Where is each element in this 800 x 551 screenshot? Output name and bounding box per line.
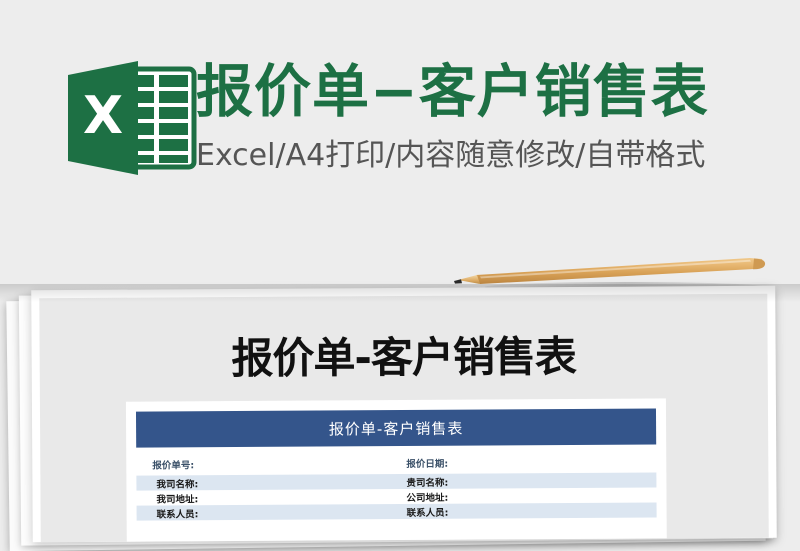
document-title: 报价单-客户销售表: [39, 322, 767, 387]
document-sheet-front: 报价单-客户销售表 报价单-客户销售表 报价单号: 报价日期: 我司名称: 贵司…: [31, 286, 777, 543]
excel-file-icon: X: [60, 57, 200, 179]
document-preview-stack: 报价单-客户销售表 报价单-客户销售表 报价单号: 报价日期: 我司名称: 贵司…: [0, 284, 800, 526]
document-page: 报价单-客户销售表 报价单-客户销售表 报价单号: 报价日期: 我司名称: 贵司…: [39, 294, 768, 542]
quotation-form-card: 报价单-客户销售表 报价单号: 报价日期: 我司名称: 贵司名称: 我司地址: …: [126, 398, 667, 541]
svg-text:X: X: [83, 86, 123, 146]
quote-date-label: 报价日期:: [396, 454, 656, 470]
field-label-left: 我司名称:: [136, 475, 396, 491]
field-label-right: 贵司名称:: [396, 473, 656, 489]
table-row: 联系人员: 联系人员:: [137, 502, 657, 520]
form-meta-row: 报价单号: 报价日期:: [136, 444, 656, 475]
field-label-right: 公司地址:: [396, 488, 656, 504]
page-subtitle: Excel/A4打印/内容随意修改/自带格式: [196, 130, 796, 174]
page-title: 报价单−客户销售表: [196, 62, 796, 124]
form-header-banner: 报价单-客户销售表: [136, 408, 656, 447]
field-label-right: 联系人员:: [397, 503, 657, 519]
field-label-left: 我司地址:: [136, 490, 396, 506]
quote-no-label: 报价单号:: [136, 456, 396, 472]
form-field-rows: 我司名称: 贵司名称: 我司地址: 公司地址: 联系人员: 联系人员:: [136, 472, 656, 520]
promo-banner: X 报价单−客户销售表 Excel/A4打印/内容随意修改/自带格式: [0, 0, 800, 240]
title-block: 报价单−客户销售表 Excel/A4打印/内容随意修改/自带格式: [196, 62, 796, 174]
field-label-left: 联系人员:: [137, 505, 397, 521]
